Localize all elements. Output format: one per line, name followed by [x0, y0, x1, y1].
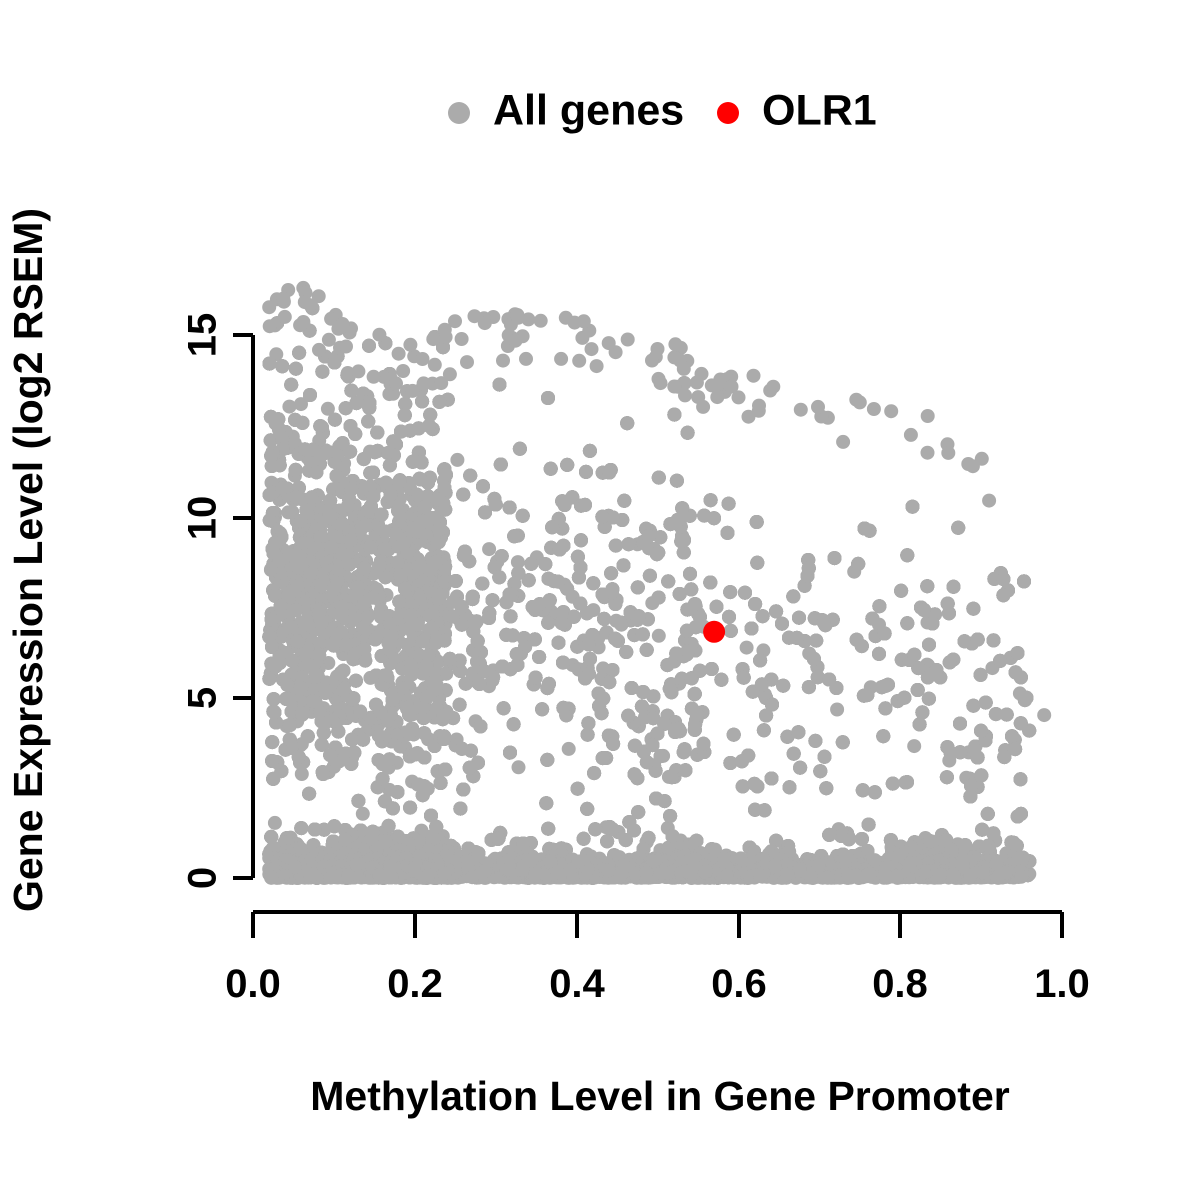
y-tick-label-5: 5 [181, 687, 225, 709]
x-tick-label-1: 0.2 [387, 962, 443, 1006]
y-tick-labels: 0 5 10 15 [181, 313, 225, 889]
x-tick-labels: 0.0 0.2 0.4 0.6 0.8 1.0 [225, 962, 1090, 1006]
x-axis-title: Methylation Level in Gene Promoter [310, 1073, 1009, 1119]
y-tick-label-0: 0 [181, 867, 225, 889]
legend-marker-olr1 [717, 102, 739, 124]
y-axis-title: Gene Expression Level (log2 RSEM) [5, 208, 51, 912]
olr1-point[interactable] [703, 621, 725, 643]
x-tick-label-4: 0.8 [872, 962, 928, 1006]
y-axis [233, 335, 253, 878]
plot-canvas: 0 5 10 15 0.0 0.2 0.4 0.6 0.8 1.0 Gene E… [0, 0, 1200, 1200]
legend-label-all-genes: All genes [493, 86, 684, 134]
legend-label-olr1: OLR1 [762, 86, 877, 134]
all-genes-point-cloud [262, 281, 1051, 885]
scatter-plot-figure: 0 5 10 15 0.0 0.2 0.4 0.6 0.8 1.0 Gene E… [0, 0, 1200, 1200]
y-tick-label-10: 10 [181, 496, 225, 541]
x-axis [253, 912, 1062, 938]
x-tick-label-5: 1.0 [1034, 962, 1090, 1006]
olr1-highlight-point[interactable] [703, 621, 725, 643]
x-tick-label-0: 0.0 [225, 962, 281, 1006]
x-tick-label-2: 0.4 [549, 962, 605, 1006]
legend: All genes OLR1 [448, 86, 877, 134]
y-tick-label-15: 15 [181, 313, 225, 358]
legend-marker-all-genes [448, 102, 470, 124]
x-tick-label-3: 0.6 [711, 962, 767, 1006]
